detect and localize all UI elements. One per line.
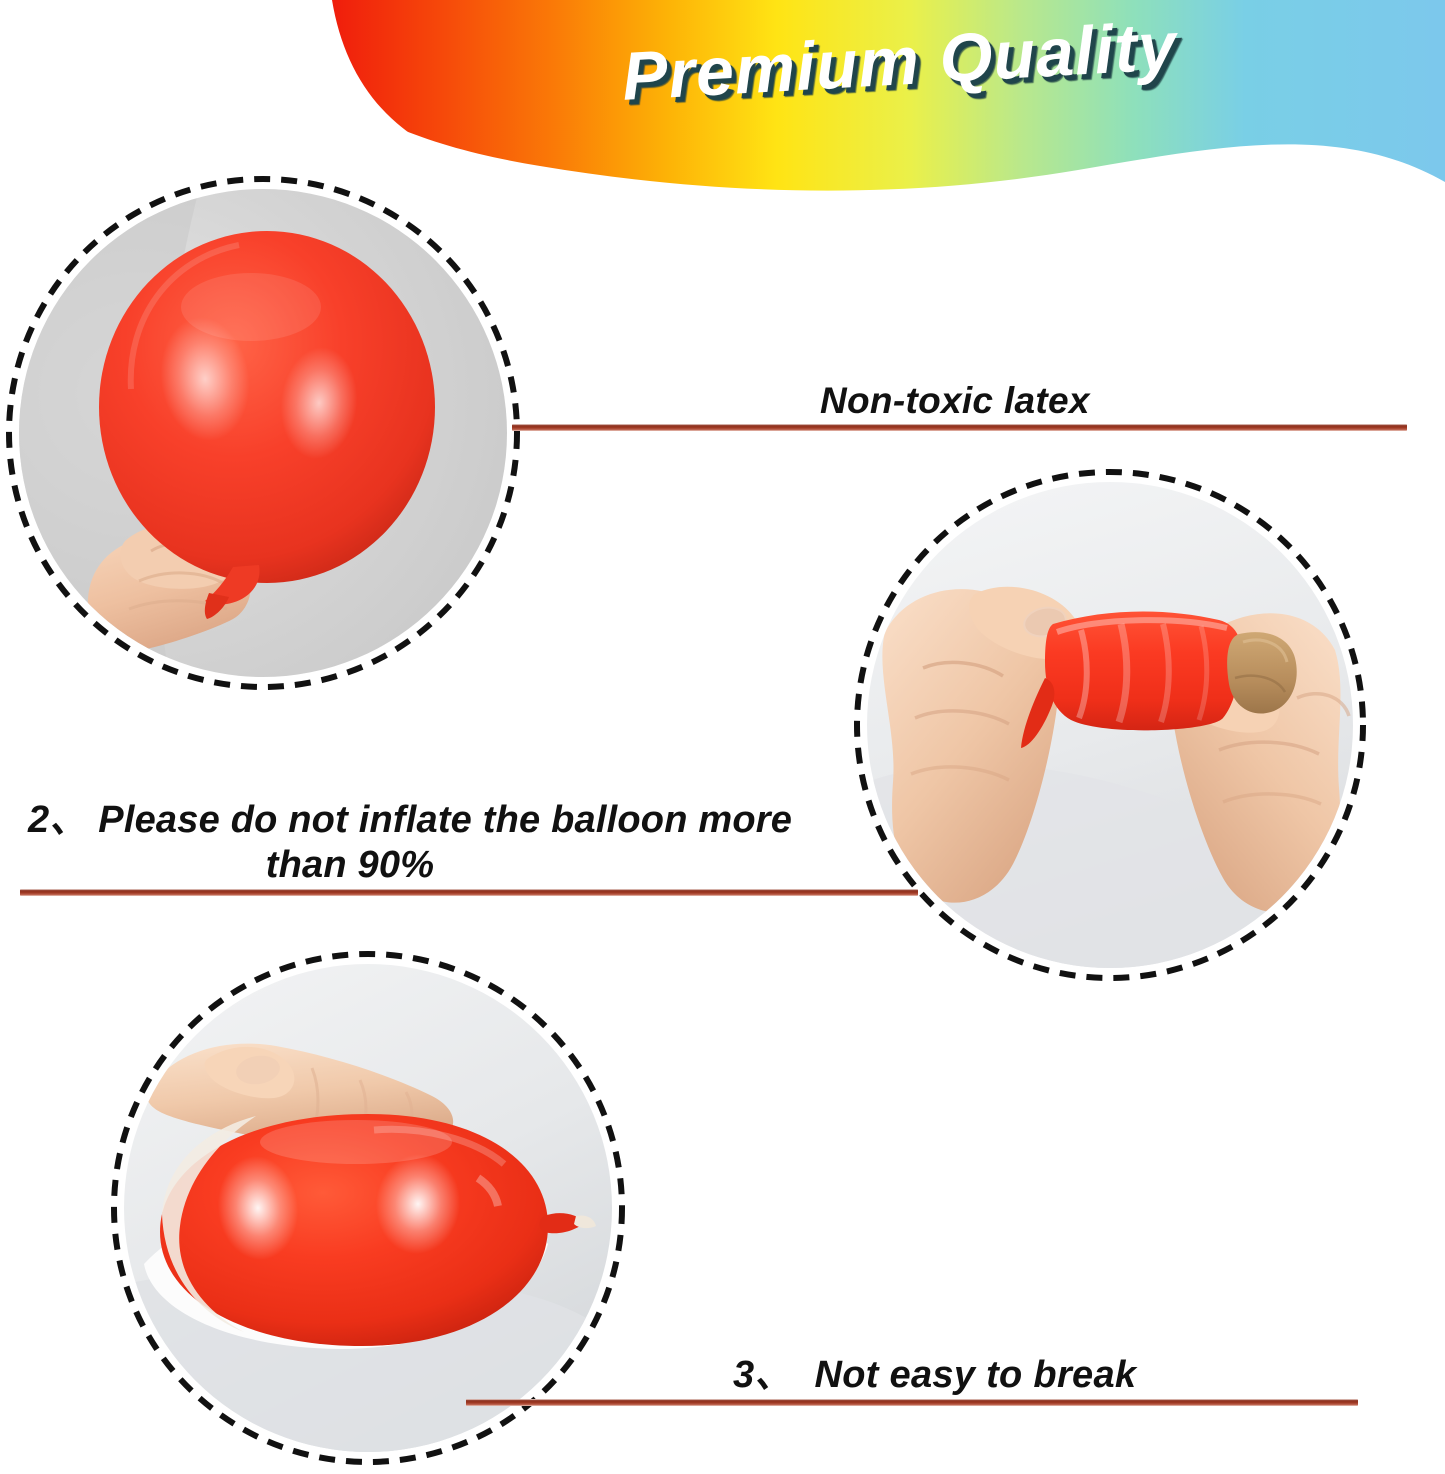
header-banner: Premium Quality bbox=[0, 0, 1445, 200]
feature-photo-not-easy-to-break bbox=[110, 950, 626, 1466]
feature-label-not-easy-to-break: 3、 Not easy to break bbox=[733, 1353, 1136, 1398]
feature-label-non-toxic-latex: Non-toxic latex bbox=[820, 379, 1090, 423]
feature-photo-non-toxic-latex bbox=[5, 175, 521, 691]
feature-label-inflate-limit: 2、 Please do not inflate the balloon mor… bbox=[20, 798, 850, 888]
connector-rule-not-easy-to-break bbox=[466, 1399, 1358, 1406]
photo-balloon-in-hand bbox=[19, 189, 507, 677]
connector-rule-inflate-limit bbox=[20, 889, 918, 896]
photo-pressing-balloon bbox=[124, 964, 612, 1452]
feature-label-inflate-limit-line2: than 90% bbox=[20, 843, 850, 888]
feature-label-inflate-limit-line1: 2、 Please do not inflate the balloon mor… bbox=[20, 798, 850, 843]
connector-rule-non-toxic-latex bbox=[512, 424, 1407, 431]
feature-photo-inflate-limit bbox=[853, 468, 1367, 982]
photo-stretching-balloon bbox=[867, 482, 1353, 968]
